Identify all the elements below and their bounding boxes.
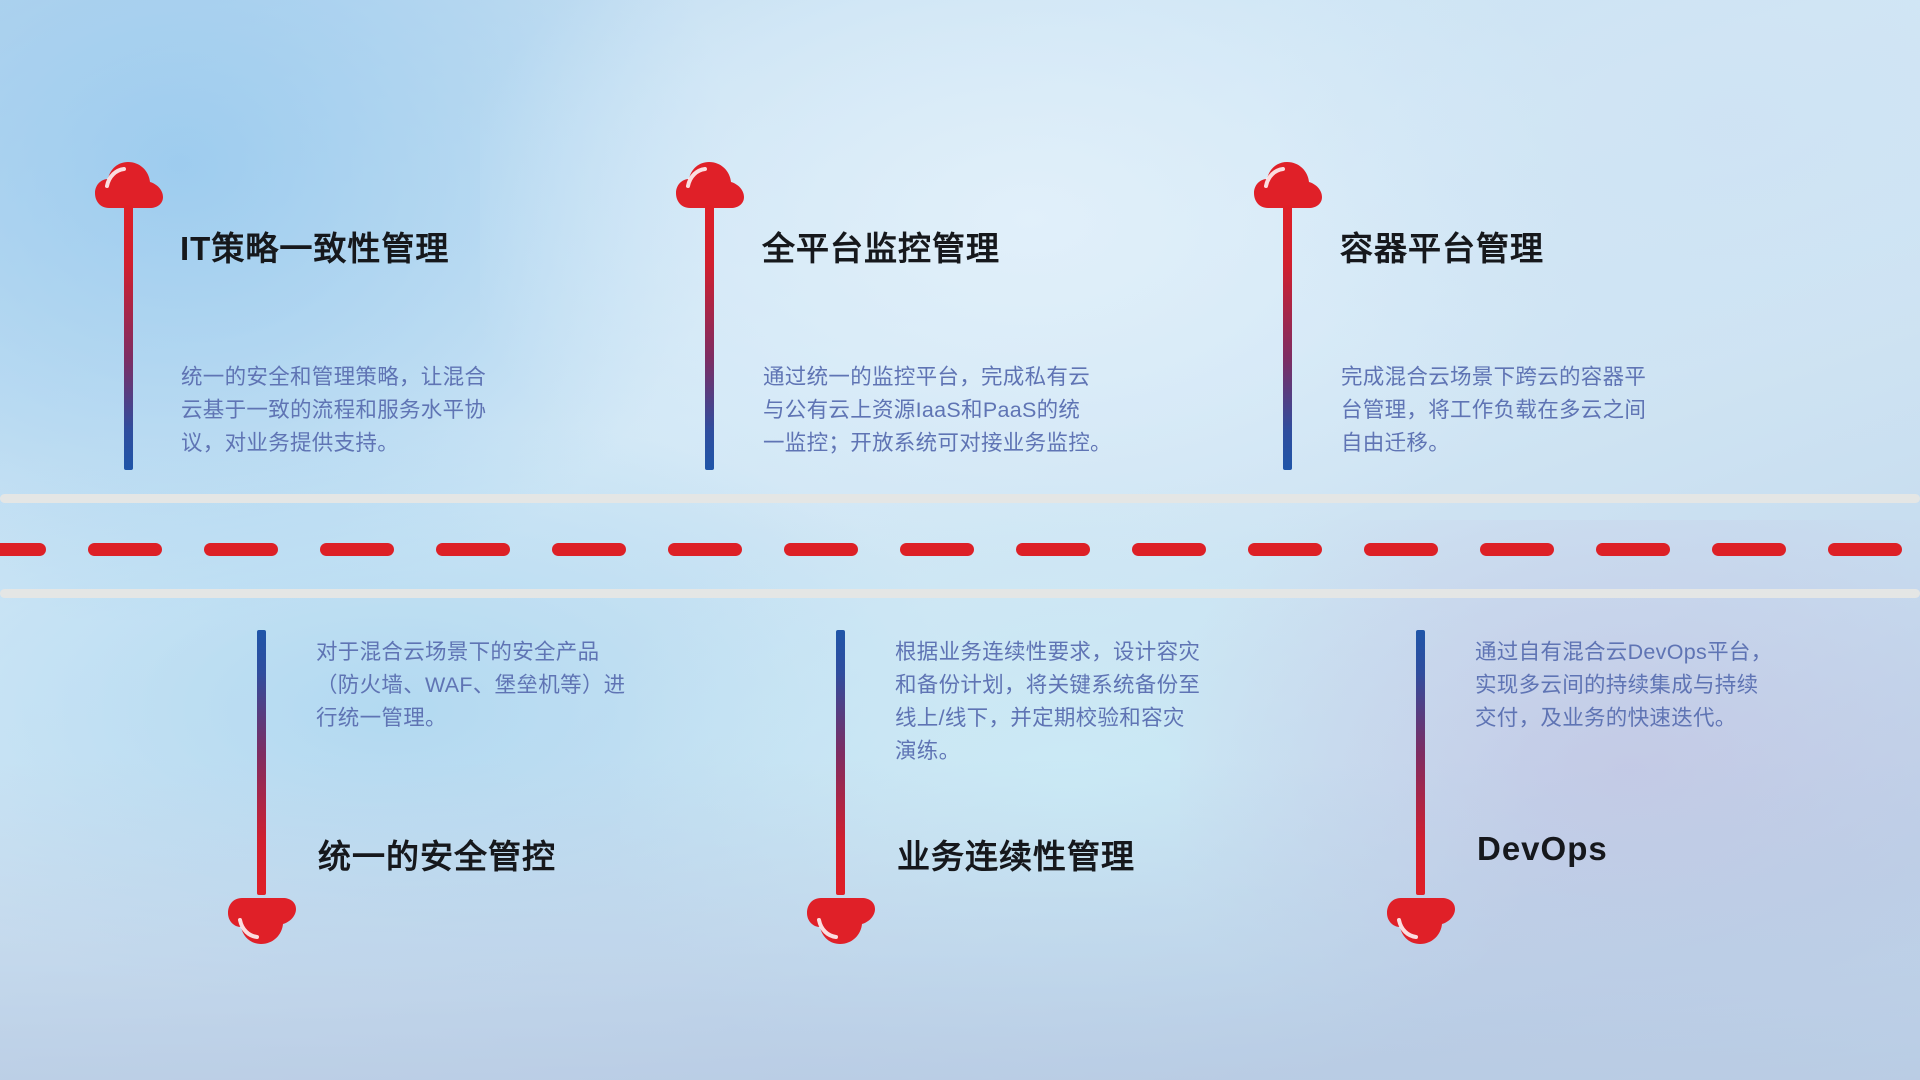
road-dash (1596, 543, 1670, 556)
road-dash (1364, 543, 1438, 556)
connector-bar (1416, 630, 1425, 895)
road-dash (1132, 543, 1206, 556)
column-title: 业务连续性管理 (897, 830, 1135, 878)
connector-bar (1283, 205, 1292, 470)
road-dash (320, 543, 394, 556)
column-title: 全平台监控管理 (762, 222, 1000, 270)
column-title: DevOps (1477, 830, 1608, 868)
road-dash (1016, 543, 1090, 556)
road-dash (1248, 543, 1322, 556)
connector-bar (705, 205, 714, 470)
road-dash (552, 543, 626, 556)
column-body: 通过自有混合云DevOps平台， 实现多云间的持续集成与持续 交付，及业务的快速… (1475, 636, 1905, 735)
road-dash (204, 543, 278, 556)
cloud-icon (1254, 160, 1322, 210)
road-dash (900, 543, 974, 556)
connector-bar (836, 630, 845, 895)
column-body: 统一的安全和管理策略，让混合 云基于一致的流程和服务水平协 议，对业务提供支持。 (181, 361, 611, 460)
road-dash (1712, 543, 1786, 556)
road-dash (436, 543, 510, 556)
road-dash (0, 543, 46, 556)
column-title: 统一的安全管控 (318, 830, 556, 878)
column-body: 完成混合云场景下跨云的容器平 台管理，将工作负载在多云之间 自由迁移。 (1341, 361, 1771, 460)
road-center-dashes (0, 543, 1920, 556)
road-dash (1480, 543, 1554, 556)
road-dash (88, 543, 162, 556)
cloud-icon (1387, 896, 1455, 946)
connector-bar (124, 205, 133, 470)
column-body: 对于混合云场景下的安全产品 （防火墙、WAF、堡垒机等）进 行统一管理。 (316, 636, 746, 735)
column-title: IT策略一致性管理 (180, 222, 449, 270)
connector-bar (257, 630, 266, 895)
column-title: 容器平台管理 (1340, 222, 1544, 270)
cloud-icon (95, 160, 163, 210)
road-dash (784, 543, 858, 556)
cloud-icon (228, 896, 296, 946)
road-line-top (0, 494, 1920, 503)
cloud-icon (807, 896, 875, 946)
road-dash (668, 543, 742, 556)
road-line-bottom (0, 589, 1920, 598)
column-body: 根据业务连续性要求，设计容灾 和备份计划，将关键系统备份至 线上/线下，并定期校… (895, 636, 1325, 768)
infographic-canvas: IT策略一致性管理 统一的安全和管理策略，让混合 云基于一致的流程和服务水平协 … (0, 0, 1920, 1080)
cloud-icon (676, 160, 744, 210)
column-body: 通过统一的监控平台，完成私有云 与公有云上资源IaaS和PaaS的统 一监控；开… (763, 361, 1203, 460)
road-dash (1828, 543, 1902, 556)
